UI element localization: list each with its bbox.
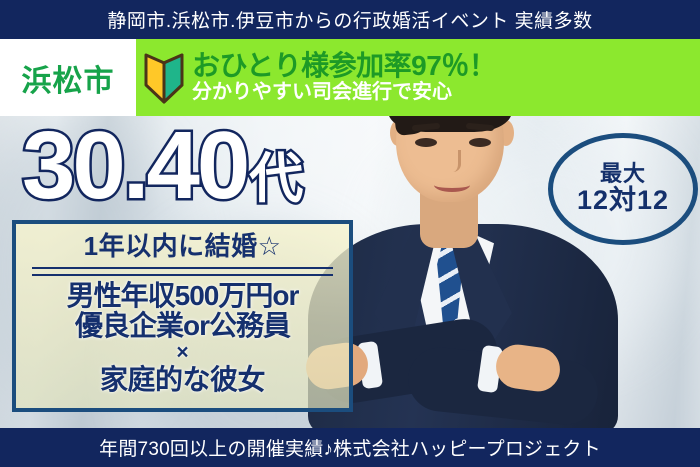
conditions-divider bbox=[32, 267, 333, 276]
city-chip-label: 浜松市 bbox=[22, 56, 115, 100]
condition-line-1: 男性年収500万円or bbox=[22, 281, 343, 311]
top-headline-bar: 静岡市.浜松市.伊豆市からの行政婚活イベント 実績多数 bbox=[0, 0, 700, 39]
condition-line-4: 家庭的な彼女 bbox=[22, 365, 343, 395]
host-reassurance-text: 分かりやすい司会進行で安心 bbox=[192, 80, 496, 104]
smiling-mouth bbox=[434, 178, 470, 192]
capacity-circle-badge: 最大 12対12 bbox=[548, 133, 698, 245]
age-range-suffix: 代 bbox=[249, 152, 303, 206]
conditions-title: 1年以内に結婚☆ bbox=[22, 232, 343, 261]
company-credit-text: 年間730回以上の開催実績♪株式会社ハッピープロジェクト bbox=[99, 434, 601, 461]
age-range-number: 30.40 bbox=[22, 122, 247, 210]
nose bbox=[446, 150, 461, 172]
eye-left bbox=[415, 138, 437, 147]
eye-right bbox=[469, 138, 491, 147]
green-promo-band: おひとり様参加率97％！ 分かりやすい司会進行で安心 bbox=[136, 39, 700, 116]
capacity-badge-line1: 最大 bbox=[600, 162, 646, 186]
shoshinsha-leaf-mark-icon bbox=[142, 51, 186, 105]
condition-separator: × bbox=[22, 341, 343, 365]
age-range-headline: 30.40 代 bbox=[22, 122, 303, 210]
conditions-info-box: 1年以内に結婚☆ 男性年収500万円or 優良企業or公務員 × 家庭的な彼女 bbox=[12, 220, 353, 412]
capacity-badge-line2: 12対12 bbox=[577, 186, 669, 216]
bottom-company-bar: 年間730回以上の開催実績♪株式会社ハッピープロジェクト bbox=[0, 428, 700, 467]
promo-band-row: 浜松市 おひとり様参加率97％！ 分かりやすい司会進行で安心 bbox=[0, 39, 700, 116]
condition-line-2: 優良企業or公務員 bbox=[22, 311, 343, 341]
green-band-copy: おひとり様参加率97％！ 分かりやすい司会進行で安心 bbox=[192, 51, 496, 105]
top-headline-text: 静岡市.浜松市.伊豆市からの行政婚活イベント 実績多数 bbox=[107, 6, 592, 33]
city-chip: 浜松市 bbox=[0, 39, 136, 116]
participation-rate-text: おひとり様参加率97％！ bbox=[192, 51, 496, 81]
marketing-banner: 静岡市.浜松市.伊豆市からの行政婚活イベント 実績多数 浜松市 おひとり様参加率… bbox=[0, 0, 700, 467]
